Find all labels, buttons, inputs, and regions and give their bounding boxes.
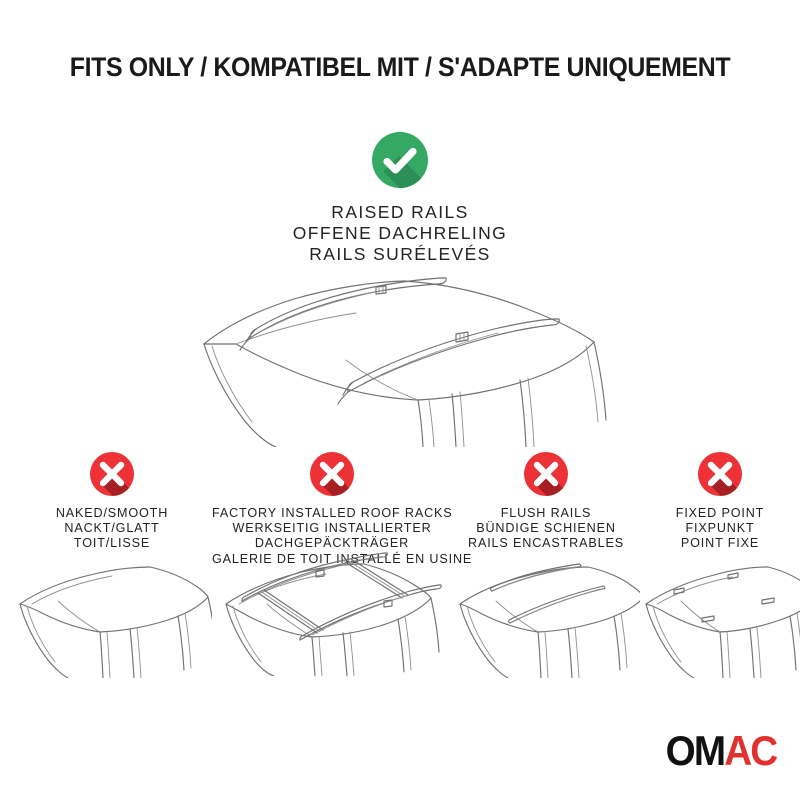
- incompatible-label-de: NACKT/GLATT: [12, 521, 212, 536]
- check-circle-icon: [372, 132, 428, 188]
- omac-logo: OMAC: [665, 730, 776, 772]
- logo-text-om: OM: [665, 727, 724, 774]
- incompatible-label-en: NAKED/SMOOTH: [12, 506, 212, 521]
- compatible-label-fr: RAILS SURÉLEVÉS: [0, 244, 800, 265]
- incompatible-label-fr: TOIT/LISSE: [12, 536, 212, 551]
- cross-circle-icon: [698, 452, 742, 496]
- bare-roof-illustration: [12, 558, 212, 678]
- incompatible-labels: FIXED POINT FIXPUNKT POINT FIXE: [640, 506, 800, 552]
- incompatible-label-en: FACTORY INSTALLED ROOF RACKS: [212, 506, 452, 521]
- flush-rails-illustration: [452, 558, 640, 678]
- incompatible-label-en: FLUSH RAILS: [452, 506, 640, 521]
- fixed-point-illustration: [640, 558, 800, 678]
- incompatible-labels: NAKED/SMOOTH NACKT/GLATT TOIT/LISSE: [12, 506, 212, 552]
- factory-roof-racks-illustration: [212, 546, 452, 666]
- incompatible-label-fr: RAILS ENCASTRABLES: [452, 536, 640, 551]
- cross-circle-icon: [524, 452, 568, 496]
- compatible-labels: RAISED RAILS OFFENE DACHRELING RAILS SUR…: [0, 202, 800, 265]
- raised-rails-illustration: [190, 272, 620, 447]
- incompatible-label-de: FIXPUNKT: [640, 521, 800, 536]
- incompatible-label-en: FIXED POINT: [640, 506, 800, 521]
- compatible-section: RAISED RAILS OFFENE DACHRELING RAILS SUR…: [0, 132, 800, 265]
- logo-text-ac: AC: [724, 727, 776, 774]
- incompatible-item-factory-roof-racks: FACTORY INSTALLED ROOF RACKS WERKSEITIG …: [212, 452, 452, 567]
- cross-circle-icon: [90, 452, 134, 496]
- cross-circle-icon: [310, 452, 354, 496]
- incompatible-item-naked-smooth: NAKED/SMOOTH NACKT/GLATT TOIT/LISSE: [12, 452, 212, 552]
- incompatible-section: NAKED/SMOOTH NACKT/GLATT TOIT/LISSE: [0, 452, 800, 702]
- incompatible-label-fr: POINT FIXE: [640, 536, 800, 551]
- incompatible-item-fixed-point: FIXED POINT FIXPUNKT POINT FIXE: [640, 452, 800, 552]
- incompatible-labels: FLUSH RAILS BÜNDIGE SCHIENEN RAILS ENCAS…: [452, 506, 640, 552]
- incompatible-item-flush-rails: FLUSH RAILS BÜNDIGE SCHIENEN RAILS ENCAS…: [452, 452, 640, 552]
- incompatible-label-de: BÜNDIGE SCHIENEN: [452, 521, 640, 536]
- page-title: FITS ONLY / KOMPATIBEL MIT / S'ADAPTE UN…: [24, 52, 776, 83]
- compatible-label-de: OFFENE DACHRELING: [0, 223, 800, 244]
- incompatible-label-de-1: WERKSEITIG INSTALLIERTER: [212, 521, 452, 536]
- compatible-label-en: RAISED RAILS: [0, 202, 800, 223]
